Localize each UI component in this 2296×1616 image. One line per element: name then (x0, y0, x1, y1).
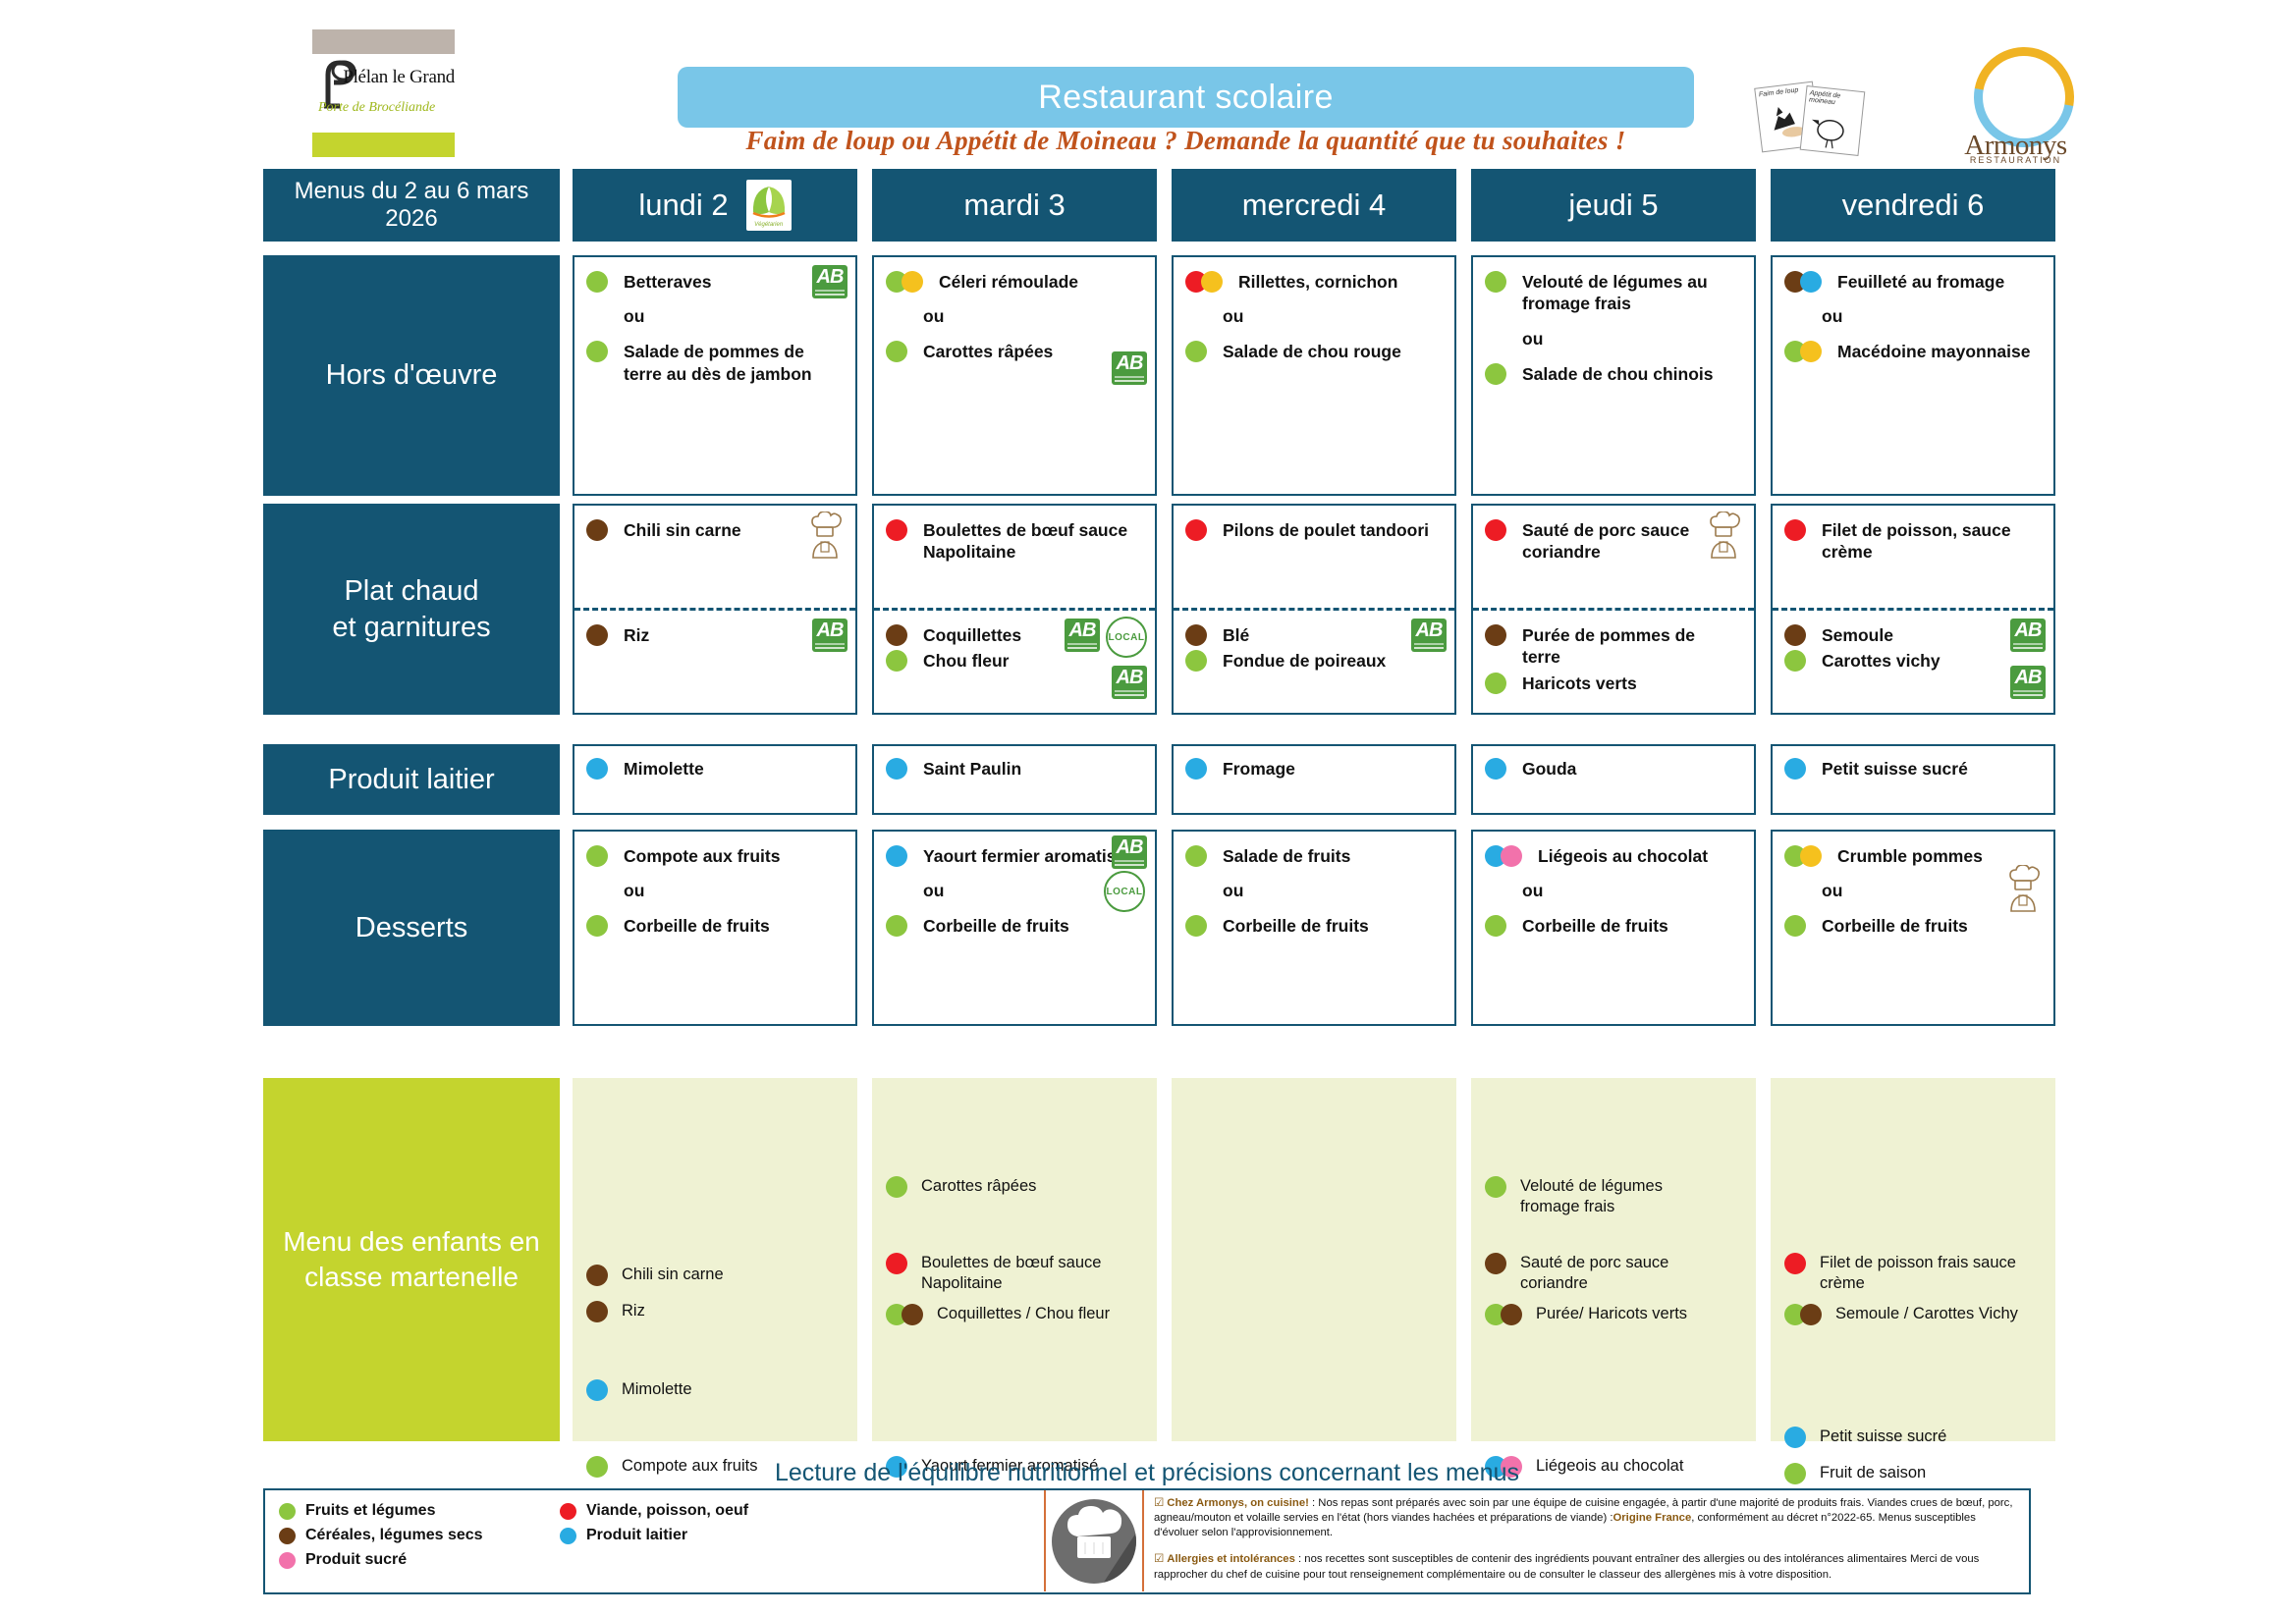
maternelle-item: Velouté de légumes fromage frais (1485, 1176, 1740, 1218)
food-category-dot (1800, 341, 1822, 362)
plat-chaud-cell: Boulettes de bœuf sauce NapolitaineCoqui… (872, 504, 1157, 715)
produit-laitier-cell: Petit suisse sucré (1771, 744, 2055, 815)
menu-separator-ou: ou (1522, 329, 1742, 350)
organic-ab-badge-icon: AB (2010, 619, 2046, 652)
maternelle-item: Sauté de porc sauce coriandre (1485, 1253, 1740, 1295)
food-category-dot (1185, 845, 1207, 867)
menu-item-name: Fromage (1223, 758, 1295, 780)
dessert-cell: Crumble pommesouCorbeille de fruits (1771, 830, 2055, 1026)
menu-item: Velouté de légumes au fromage frais (1485, 271, 1742, 315)
food-category-dot (1784, 624, 1806, 646)
maternelle-item-name: Petit suisse sucré (1820, 1427, 1946, 1447)
food-category-dot-pair (1485, 845, 1522, 867)
food-category-dot (1784, 1427, 1806, 1448)
organic-ab-badge-icon: AB (1411, 619, 1447, 652)
checkbox-icon: ☑ (1154, 1497, 1167, 1509)
menu-item: Salade de chou rouge (1185, 341, 1443, 362)
menu-item: Liégeois au chocolat (1485, 845, 1742, 867)
hors-doeuvre-cell: Rillettes, cornichonouSalade de chou rou… (1172, 255, 1456, 496)
checkbox-icon: ☑ (1154, 1553, 1167, 1565)
menu-item: Fondue de poireaux (1185, 650, 1443, 672)
menu-item-name: Chou fleur (923, 650, 1010, 672)
vegetarian-badge-icon: Végétarien (746, 180, 792, 231)
note-allergies: ☑ Allergies et intolérances : nos recett… (1154, 1552, 2018, 1582)
legend-color-dot (279, 1552, 296, 1569)
legend-column-right: Viande, poisson, oeufProduit laitier (560, 1502, 748, 1551)
plat-garnitures: RizAB (574, 611, 855, 646)
menu-item: Coquillettes (886, 624, 1143, 646)
food-category-dot (586, 1379, 608, 1401)
organic-ab-badge-icon: AB (1065, 619, 1100, 652)
menu-item-name: Crumble pommes (1837, 845, 1983, 867)
plat-principal: Chili sin carne (574, 506, 855, 608)
logo-top-bar (312, 29, 455, 54)
note-allergies-title: Allergies et intolérances (1167, 1553, 1295, 1565)
chef-made-icon (804, 512, 846, 559)
food-category-dot (1501, 1304, 1522, 1325)
food-category-dot (1784, 1253, 1806, 1274)
legend-label: Céréales, légumes secs (305, 1527, 483, 1544)
maternelle-cell: Velouté de légumes fromage fraisSauté de… (1471, 1078, 1756, 1441)
maternelle-cell: Filet de poisson frais sauce crèmeSemoul… (1771, 1078, 2055, 1441)
food-category-dot (1185, 758, 1207, 780)
menu-item: Pilons de poulet tandoori (1185, 519, 1443, 541)
menu-item: Fromage (1185, 758, 1443, 780)
food-category-dot (586, 271, 608, 293)
chef-hat-badge (1044, 1490, 1144, 1591)
menu-item-name: Rillettes, cornichon (1238, 271, 1397, 293)
maternelle-item: Petit suisse sucré (1784, 1427, 2040, 1448)
vegetarian-badge-label: Végétarien (746, 222, 792, 229)
page-title: Restaurant scolaire (1038, 79, 1334, 117)
row-label-text: Plat chaud et garnitures (332, 573, 490, 645)
plat-chaud-cell: Pilons de poulet tandooriBléABFondue de … (1172, 504, 1456, 715)
menu-item: Chou fleur (886, 650, 1143, 672)
menu-item-name: Haricots verts (1522, 673, 1637, 694)
dessert-cell: Yaourt fermier aromatiséABLOCALouCorbeil… (872, 830, 1157, 1026)
organic-ab-badge-icon: AB (2010, 666, 2046, 699)
food-category-dot (1800, 845, 1822, 867)
plat-garnitures: SemouleABCarottes vichyAB (1773, 611, 2053, 673)
menu-separator-ou: ou (1223, 306, 1443, 327)
plelan-logo-name: Plélan le Grand (315, 67, 455, 88)
menu-item-name: Feuilleté au fromage (1837, 271, 2004, 293)
menu-item-name: Céleri rémoulade (939, 271, 1078, 293)
food-category-dot (1185, 341, 1207, 362)
menu-item: Carottes vichy (1784, 650, 2042, 672)
menu-item: Compote aux fruits (586, 845, 844, 867)
menu-item: Corbeille de fruits (1185, 915, 1443, 937)
menu-item-name: Purée de pommes de terre (1522, 624, 1733, 669)
food-category-dot (586, 915, 608, 937)
menu-item: Haricots verts (1485, 673, 1742, 694)
legend-color-dot (560, 1528, 576, 1544)
menu-item: Boulettes de bœuf sauce Napolitaine (886, 519, 1143, 564)
food-category-dot (1201, 271, 1223, 293)
food-category-dot (1485, 271, 1506, 293)
maternelle-item: Coquillettes / Chou fleur (886, 1304, 1141, 1325)
food-category-dot (886, 519, 907, 541)
menu-item-name: Liégeois au chocolat (1538, 845, 1708, 867)
maternelle-item-name: Sauté de porc sauce coriandre (1520, 1253, 1726, 1295)
maternelle-item-name: Carottes râpées (921, 1176, 1036, 1197)
day-label: lundi 2 (638, 188, 728, 223)
local-badge-icon: LOCAL (1104, 871, 1145, 912)
food-category-dot-pair (886, 271, 923, 293)
plelan-le-grand-logo: Plélan le Grand Porte de Brocéliande (312, 29, 455, 157)
chef-hat-icon (1052, 1499, 1136, 1584)
menu-item: Riz (586, 624, 844, 646)
food-category-dot (886, 341, 907, 362)
food-category-dot (1485, 624, 1506, 646)
dessert-cell: Compote aux fruitsouCorbeille de fruits (573, 830, 857, 1026)
food-category-dot (1485, 1176, 1506, 1198)
organic-ab-badge-icon: AB (1112, 666, 1147, 699)
menu-item-name: Yaourt fermier aromatisé (923, 845, 1125, 867)
menu-item: Blé (1185, 624, 1443, 646)
menu-item-name: Salade de fruits (1223, 845, 1350, 867)
produit-laitier-cell: Gouda (1471, 744, 1756, 815)
menu-item: Feuilleté au fromage (1784, 271, 2042, 293)
legend-row: Céréales, légumes secs (279, 1527, 483, 1544)
produit-laitier-cell: Saint Paulin (872, 744, 1157, 815)
menu-item-name: Corbeille de fruits (1223, 915, 1369, 937)
maternelle-item: Semoule / Carottes Vichy (1784, 1304, 2040, 1325)
food-category-dot (886, 624, 907, 646)
hors-doeuvre-cell: Velouté de légumes au fromage fraisouSal… (1471, 255, 1756, 496)
day-header-mercredi: mercredi 4 (1172, 169, 1456, 242)
row-label-plat-chaud: Plat chaud et garnitures (263, 504, 560, 715)
leaf-icon (750, 183, 788, 218)
plelan-logo-slogan: Porte de Brocéliande (318, 100, 456, 116)
day-header-mardi: mardi 3 (872, 169, 1157, 242)
food-category-dot (886, 1253, 907, 1274)
menu-separator-ou: ou (1223, 881, 1443, 901)
food-category-dot (1800, 271, 1822, 293)
footer-legend-box: Fruits et légumesCéréales, légumes secsP… (263, 1488, 2031, 1594)
menu-item-name: Fondue de poireaux (1223, 650, 1386, 672)
legend-row: Produit sucré (279, 1551, 483, 1569)
row-label-hors-doeuvre: Hors d'œuvre (263, 255, 560, 496)
food-category-dot (1784, 650, 1806, 672)
organic-ab-badge-icon: AB (1112, 835, 1147, 869)
food-category-dot (902, 1304, 923, 1325)
row-label-desserts: Desserts (263, 830, 560, 1026)
food-category-dot-pair (1784, 271, 1822, 293)
food-category-dot (1185, 519, 1207, 541)
plat-principal: Sauté de porc sauce coriandre (1473, 506, 1754, 608)
footer-title: Lecture de l'équilibre nutritionnel et p… (263, 1459, 2031, 1487)
hors-doeuvre-cell: Céleri rémouladeouCarottes râpéesAB (872, 255, 1157, 496)
food-category-dot-pair (1485, 1304, 1522, 1325)
legend-label: Fruits et légumes (305, 1502, 435, 1520)
food-category-dot (586, 519, 608, 541)
menu-item-name: Corbeille de fruits (923, 915, 1069, 937)
menu-item: Mimolette (586, 758, 844, 780)
plat-principal: Filet de poisson, sauce crème (1773, 506, 2053, 608)
maternelle-item-name: Filet de poisson frais sauce crème (1820, 1253, 2026, 1295)
legend-color-dot (560, 1503, 576, 1520)
legend-row: Fruits et légumes (279, 1502, 483, 1520)
menu-item-name: Chili sin carne (624, 519, 741, 541)
menu-item: Salade de fruits (1185, 845, 1443, 867)
menu-separator-ou: ou (624, 881, 844, 901)
plat-chaud-cell: Chili sin carneRizAB (573, 504, 857, 715)
illustration-cards: Faim de loup Appétit de moineau (1758, 81, 1866, 151)
food-category-dot (1485, 519, 1506, 541)
maternelle-item-name: Velouté de légumes fromage frais (1520, 1176, 1726, 1218)
produit-laitier-cell: Fromage (1172, 744, 1456, 815)
maternelle-item-name: Mimolette (622, 1379, 692, 1400)
food-category-dot (1485, 673, 1506, 694)
maternelle-item: Boulettes de bœuf sauce Napolitaine (886, 1253, 1141, 1295)
legend-column-left: Fruits et légumesCéréales, légumes secsP… (279, 1502, 483, 1576)
legend-row: Viande, poisson, oeuf (560, 1502, 748, 1520)
food-category-dot (902, 271, 923, 293)
chef-made-icon (1703, 512, 1744, 559)
food-category-dot (886, 915, 907, 937)
dessert-cell: Liégeois au chocolatouCorbeille de fruit… (1471, 830, 1756, 1026)
menu-item: Petit suisse sucré (1784, 758, 2042, 780)
row-label-produit-laitier: Produit laitier (263, 744, 560, 815)
maternelle-item-name: Semoule / Carottes Vichy (1835, 1304, 2018, 1324)
maternelle-cell: Chili sin carneRizMimoletteCompote aux f… (573, 1078, 857, 1441)
food-category-dot (1485, 1253, 1506, 1274)
restaurant-title-banner: Restaurant scolaire (678, 67, 1694, 128)
food-category-dot-pair (1784, 845, 1822, 867)
plat-chaud-cell: Sauté de porc sauce coriandrePurée de po… (1471, 504, 1756, 715)
menu-item: Filet de poisson, sauce crème (1784, 519, 2042, 564)
menu-separator-ou: ou (1522, 881, 1742, 901)
plat-chaud-cell: Filet de poisson, sauce crèmeSemouleABCa… (1771, 504, 2055, 715)
day-header-lundi: lundi 2 Végétarien (573, 169, 857, 242)
menu-item: Corbeille de fruits (1784, 915, 2042, 937)
food-category-dot-pair (886, 1304, 923, 1325)
menu-item-name: Filet de poisson, sauce crème (1822, 519, 2033, 564)
food-category-dot (1784, 915, 1806, 937)
menu-separator-ou: ou (624, 306, 844, 327)
maternelle-item-name: Boulettes de bœuf sauce Napolitaine (921, 1253, 1127, 1295)
food-category-dot (586, 624, 608, 646)
tagline-text: Faim de loup ou Appétit de Moineau ? Dem… (678, 126, 1694, 156)
legend-label: Viande, poisson, oeuf (586, 1502, 748, 1520)
legend-color-dot (279, 1528, 296, 1544)
maternelle-item: Filet de poisson frais sauce crème (1784, 1253, 2040, 1295)
food-category-dot (586, 1265, 608, 1286)
footer-notes: ☑ Chez Armonys, on cuisine! : Nos repas … (1154, 1496, 2018, 1586)
menu-item: Gouda (1485, 758, 1742, 780)
food-category-dot (586, 1301, 608, 1322)
menu-item: Yaourt fermier aromatisé (886, 845, 1143, 867)
menu-item-name: Velouté de légumes au fromage frais (1522, 271, 1733, 315)
logo-bottom-bar (312, 133, 455, 157)
menu-item-name: Salade de chou chinois (1522, 363, 1714, 385)
food-category-dot (1784, 758, 1806, 780)
menu-item: Saint Paulin (886, 758, 1143, 780)
chef-made-icon (2002, 865, 2044, 912)
food-category-dot-pair (1185, 271, 1223, 293)
menu-item-name: Corbeille de fruits (1522, 915, 1668, 937)
maternelle-item-name: Chili sin carne (622, 1265, 724, 1285)
menu-item: Purée de pommes de terre (1485, 624, 1742, 669)
plat-principal: Boulettes de bœuf sauce Napolitaine (874, 506, 1155, 608)
maternelle-item: Mimolette (586, 1379, 842, 1401)
card-appetit-de-moineau: Appétit de moineau (1800, 85, 1866, 156)
food-category-dot (1784, 519, 1806, 541)
menu-item: Macédoine mayonnaise (1784, 341, 2042, 362)
menu-item: Corbeille de fruits (886, 915, 1143, 937)
chef-hat-circle (1052, 1499, 1136, 1584)
legend-row: Produit laitier (560, 1527, 748, 1544)
food-category-dot (1485, 915, 1506, 937)
menu-item-name: Carottes vichy (1822, 650, 1941, 672)
food-category-dot (886, 845, 907, 867)
hors-doeuvre-cell: Feuilleté au fromageouMacédoine mayonnai… (1771, 255, 2055, 496)
menu-item-name: Salade de pommes de terre au dès de jamb… (624, 341, 835, 385)
food-category-dot-pair (1784, 341, 1822, 362)
note-origine-france: Origine France (1613, 1512, 1692, 1524)
note-spacer (1154, 1543, 2018, 1552)
menu-item: Salade de pommes de terre au dès de jamb… (586, 341, 844, 385)
armonys-subtitle: RESTAURATION (1949, 155, 2082, 165)
maternelle-item-name: Purée/ Haricots verts (1536, 1304, 1687, 1324)
menu-item-name: Petit suisse sucré (1822, 758, 1968, 780)
note-armonys: ☑ Chez Armonys, on cuisine! : Nos repas … (1154, 1496, 2018, 1540)
menu-item-name: Carottes râpées (923, 341, 1053, 362)
produit-laitier-cell: Mimolette (573, 744, 857, 815)
menu-item-name: Corbeille de fruits (1822, 915, 1968, 937)
menu-item-name: Coquillettes (923, 624, 1021, 646)
hors-doeuvre-cell: BetteravesABouSalade de pommes de terre … (573, 255, 857, 496)
plat-garnitures: BléABFondue de poireaux (1174, 611, 1454, 673)
organic-ab-badge-icon: AB (812, 265, 847, 298)
food-category-dot (1485, 363, 1506, 385)
food-category-dot-pair (1784, 1304, 1822, 1325)
food-category-dot (1485, 758, 1506, 780)
food-category-dot (886, 650, 907, 672)
maternelle-item-name: Coquillettes / Chou fleur (937, 1304, 1110, 1324)
maternelle-item-name: Riz (622, 1301, 645, 1321)
plat-principal: Pilons de poulet tandoori (1174, 506, 1454, 608)
organic-ab-badge-icon: AB (1112, 351, 1147, 385)
menu-item-name: Macédoine mayonnaise (1837, 341, 2030, 362)
legend-color-dot (279, 1503, 296, 1520)
food-category-dot (586, 758, 608, 780)
menu-item: Semoule (1784, 624, 2042, 646)
menu-item-name: Semoule (1822, 624, 1893, 646)
food-category-dot (886, 1176, 907, 1198)
menu-item: Carottes râpées (886, 341, 1143, 362)
food-category-dot (1185, 624, 1207, 646)
food-category-dot (586, 845, 608, 867)
menu-item: Corbeille de fruits (586, 915, 844, 937)
menu-separator-ou: ou (1822, 306, 2042, 327)
menu-item: Corbeille de fruits (1485, 915, 1742, 937)
plat-garnitures: CoquillettesABLOCALChou fleurAB (874, 611, 1155, 673)
day-header-jeudi: jeudi 5 (1471, 169, 1756, 242)
menu-item-name: Boulettes de bœuf sauce Napolitaine (923, 519, 1134, 564)
maternelle-item: Carottes râpées (886, 1176, 1141, 1198)
note-armonys-title: Chez Armonys, on cuisine! (1167, 1497, 1309, 1509)
week-range-header: Menus du 2 au 6 mars 2026 (263, 169, 560, 242)
dessert-cell: Salade de fruitsouCorbeille de fruits (1172, 830, 1456, 1026)
plat-garnitures: Purée de pommes de terreHaricots verts (1473, 611, 1754, 694)
menu-item-name: Mimolette (624, 758, 704, 780)
menu-item: Salade de chou chinois (1485, 363, 1742, 385)
legend-label: Produit laitier (586, 1527, 687, 1544)
maternelle-item: Purée/ Haricots verts (1485, 1304, 1740, 1325)
food-category-dot (1800, 1304, 1822, 1325)
menu-item-name: Compote aux fruits (624, 845, 780, 867)
menu-item-name: Riz (624, 624, 649, 646)
food-category-dot (586, 341, 608, 362)
day-header-vendredi: vendredi 6 (1771, 169, 2055, 242)
menu-item-name: Corbeille de fruits (624, 915, 770, 937)
menu-item: Betteraves (586, 271, 844, 293)
maternelle-cell (1172, 1078, 1456, 1441)
menu-item-name: Salade de chou rouge (1223, 341, 1401, 362)
food-category-dot (1501, 845, 1522, 867)
page-header: Plélan le Grand Porte de Brocéliande Res… (0, 0, 2296, 172)
organic-ab-badge-icon: AB (812, 619, 847, 652)
menu-item: Céleri rémoulade (886, 271, 1143, 293)
menu-item-name: Saint Paulin (923, 758, 1021, 780)
menu-separator-ou: ou (923, 306, 1143, 327)
menu-item-name: Betteraves (624, 271, 712, 293)
legend-label: Produit sucré (305, 1551, 407, 1569)
maternelle-cell: Carottes râpéesBoulettes de bœuf sauce N… (872, 1078, 1157, 1441)
food-category-dot (886, 758, 907, 780)
menu-item-name: Sauté de porc sauce coriandre (1522, 519, 1733, 564)
menu-item-name: Gouda (1522, 758, 1576, 780)
menu-item: Rillettes, cornichon (1185, 271, 1443, 293)
food-category-dot (1185, 650, 1207, 672)
maternelle-row-label: Menu des enfants en classe martenelle (263, 1078, 560, 1441)
armonys-logo: Armonys RESTAURATION (1949, 47, 2082, 157)
maternelle-item: Chili sin carne (586, 1265, 842, 1286)
food-category-dot (1185, 915, 1207, 937)
maternelle-item: Riz (586, 1301, 842, 1322)
menu-item-name: Blé (1223, 624, 1249, 646)
menu-item-name: Pilons de poulet tandoori (1223, 519, 1429, 541)
